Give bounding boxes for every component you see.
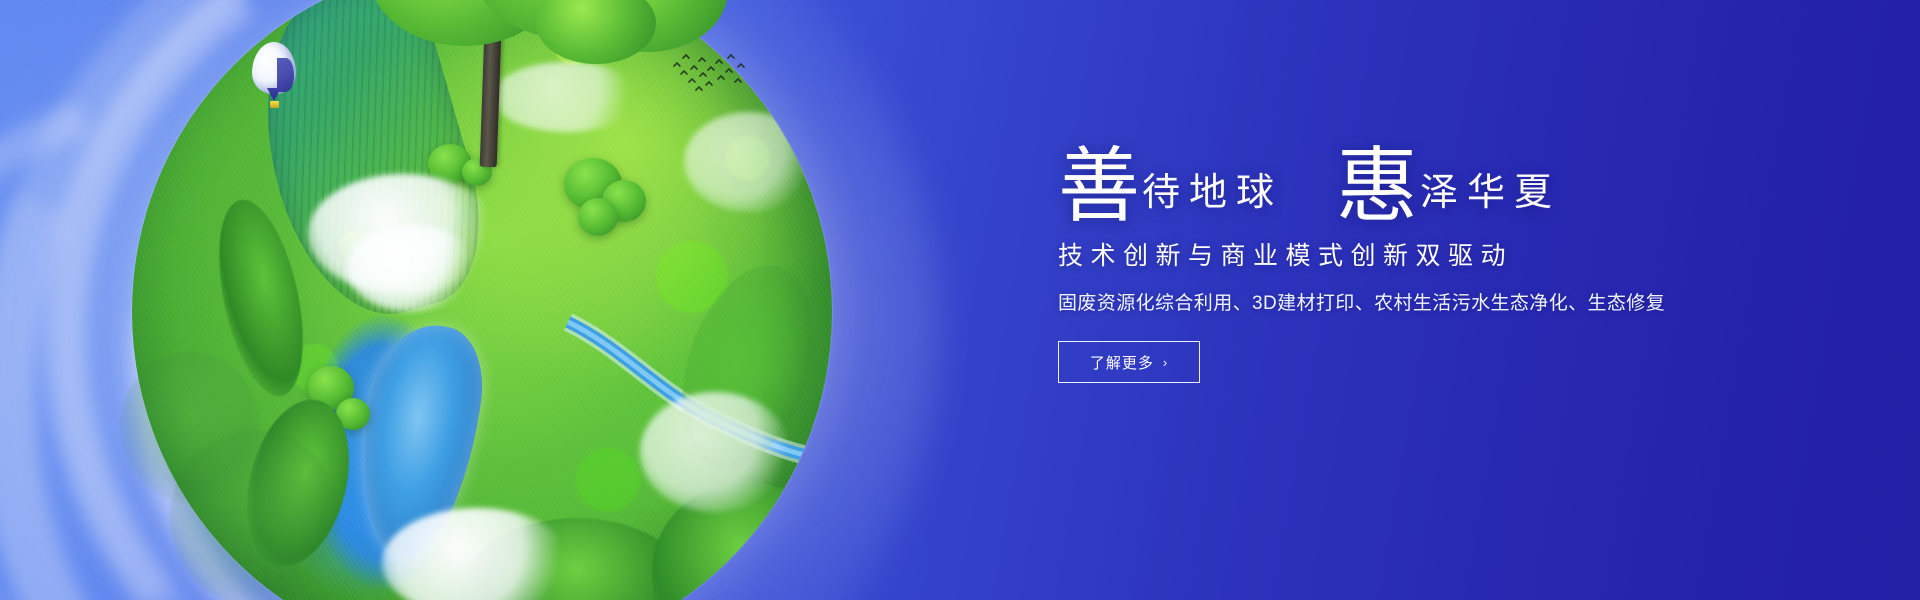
headline-char-shan: 善 [1058, 146, 1140, 228]
bush [578, 198, 618, 236]
cloud [640, 392, 790, 512]
cloud [346, 224, 476, 312]
hot-air-balloon [252, 42, 296, 110]
tree-trunk [480, 32, 502, 168]
bird-flock [672, 52, 746, 96]
learn-more-label: 了解更多 [1090, 352, 1154, 373]
hero-subtitle: 技术创新与商业模式创新双驱动 [1058, 236, 1658, 272]
balloon-tip [267, 88, 281, 101]
page-title: 善 待地球 惠 泽华夏 [1058, 136, 1658, 222]
tree-canopy [536, 0, 656, 64]
headline-text-zehuaxia: 泽华夏 [1420, 174, 1561, 212]
balloon-basket [270, 101, 279, 108]
headline-char-hui: 惠 [1336, 146, 1418, 228]
headline-text-daidiqiu: 待地球 [1142, 174, 1283, 212]
hero-tagline: 固废资源化综合利用、3D建材打印、农村生活污水生态净化、生态修复 [1058, 288, 1658, 315]
background-tree [170, 430, 340, 600]
chevron-right-icon: › [1163, 355, 1168, 370]
hero-banner: 善 待地球 惠 泽华夏 技术创新与商业模式创新双驱动 固废资源化综合利用、3D建… [0, 0, 1920, 600]
hero-copy: 善 待地球 惠 泽华夏 技术创新与商业模式创新双驱动 固废资源化综合利用、3D建… [1058, 136, 1658, 383]
learn-more-button[interactable]: 了解更多 › [1058, 341, 1200, 383]
balloon-stripe [277, 58, 294, 92]
